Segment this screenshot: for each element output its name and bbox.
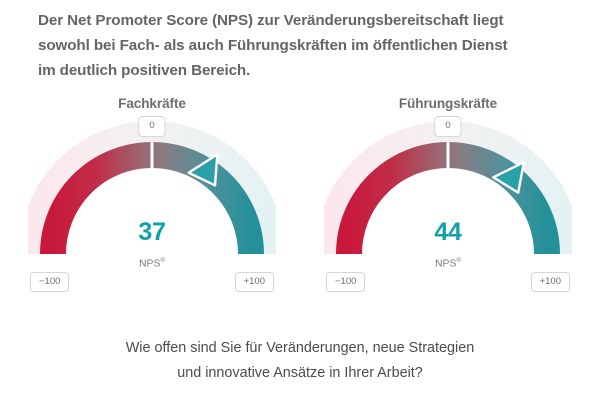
gauge-label-min-fachkraefte: −100 — [30, 272, 69, 293]
gauge-title-fuehrungskraefte: Führungskräfte — [324, 96, 572, 111]
gauge-unit-text-fachkraefte: NPS — [139, 258, 160, 269]
gauge-label-min-fuehrungskraefte: −100 — [326, 272, 365, 293]
question-text: Wie offen sind Sie für Veränderungen, ne… — [0, 336, 600, 386]
gauge-chart-fuehrungskraefte: 0 −100 +100 44 NPS® — [324, 114, 572, 292]
gauge-label-max-fuehrungskraefte: +100 — [531, 272, 570, 293]
infographic-page: Der Net Promoter Score (NPS) zur Verände… — [0, 0, 600, 400]
gauge-unit-text-fuehrungskraefte: NPS — [435, 258, 456, 269]
gauge-label-max-fachkraefte: +100 — [235, 272, 274, 293]
gauge-fuehrungskraefte: Führungskräfte — [324, 96, 572, 292]
gauge-title-fachkraefte: Fachkräfte — [28, 96, 276, 111]
gauge-unit-mark-fachkraefte: ® — [160, 257, 165, 264]
gauge-unit-fachkraefte: NPS® — [28, 257, 276, 269]
page-title: Der Net Promoter Score (NPS) zur Verände… — [38, 8, 568, 83]
question-line-clipped — [0, 390, 600, 400]
question-line-1: Wie offen sind Sie für Veränderungen, ne… — [0, 336, 600, 361]
gauge-value-fuehrungskraefte: 44 — [324, 218, 572, 247]
gauge-fachkraefte: Fachkräfte — [28, 96, 276, 292]
headline-line-2: sowohl bei Fach- als auch Führungskräfte… — [38, 33, 568, 58]
gauge-value-fachkraefte: 37 — [28, 218, 276, 247]
headline-line-1: Der Net Promoter Score (NPS) zur Verände… — [38, 8, 568, 33]
gauge-row: Fachkräfte — [0, 96, 600, 292]
gauge-unit-fuehrungskraefte: NPS® — [324, 257, 572, 269]
gauge-label-zero-fuehrungskraefte: 0 — [434, 116, 461, 137]
question-line-2: und innovative Ansätze in Ihrer Arbeit? — [0, 361, 600, 386]
headline-line-3: im deutlich positiven Bereich. — [38, 58, 568, 83]
gauge-chart-fachkraefte: 0 −100 +100 37 NPS® — [28, 114, 276, 292]
gauge-label-zero-fachkraefte: 0 — [138, 116, 165, 137]
gauge-unit-mark-fuehrungskraefte: ® — [456, 257, 461, 264]
